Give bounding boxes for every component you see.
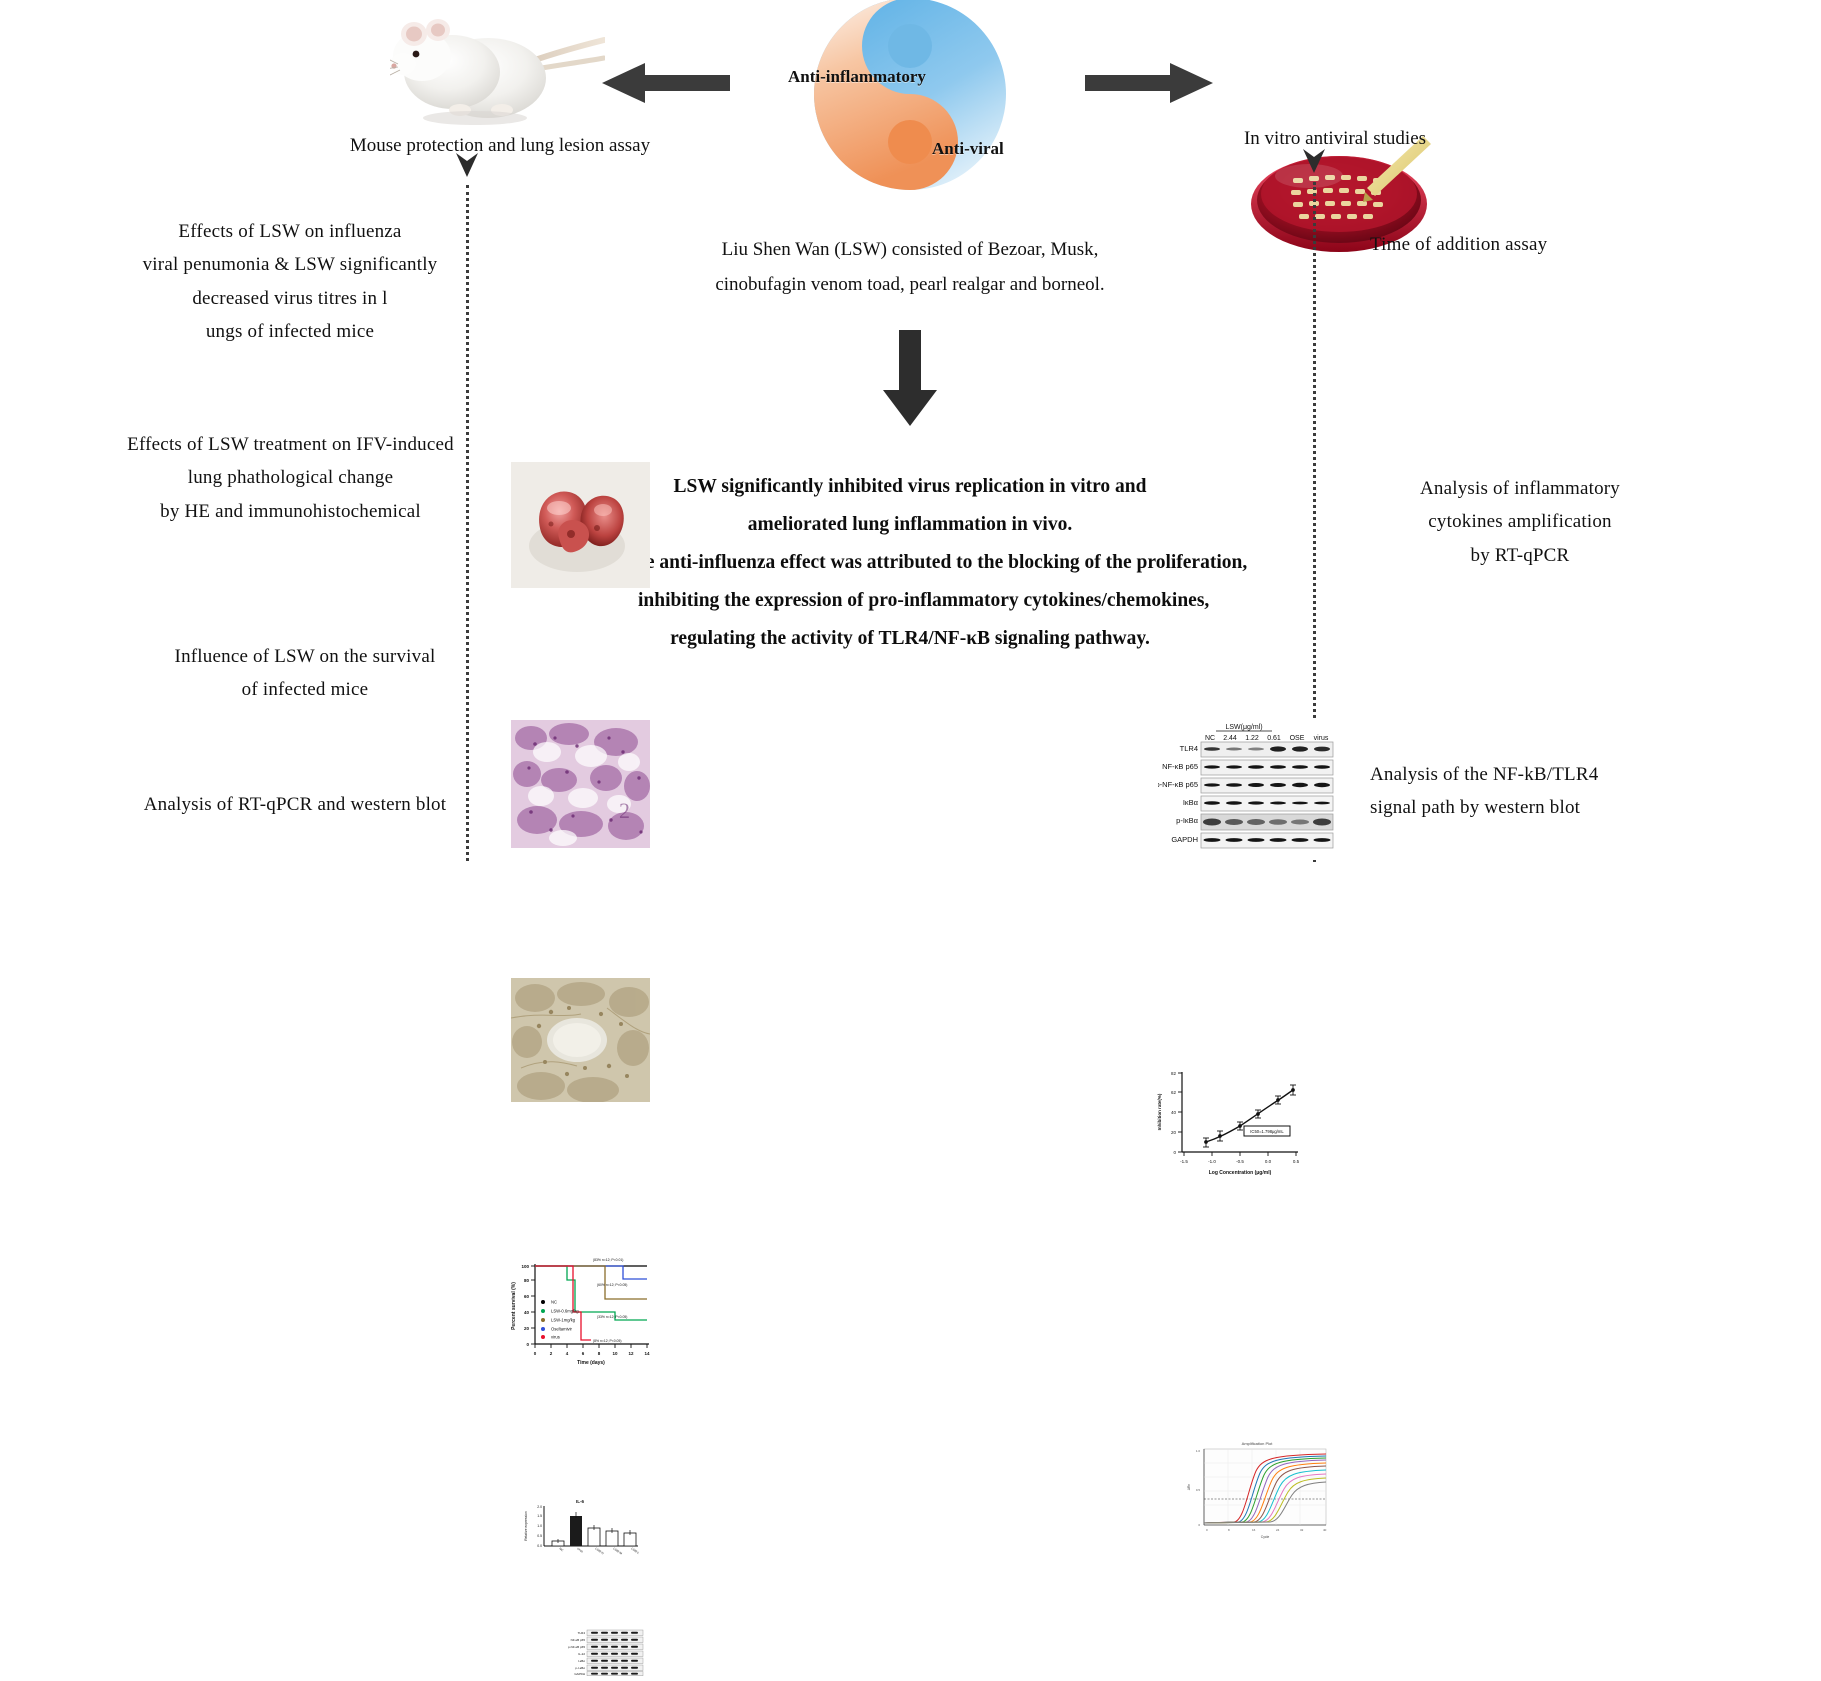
svg-text:(60% n=12; P<0.05): (60% n=12; P<0.05) <box>597 1283 627 1287</box>
svg-text:62: 62 <box>1171 1090 1177 1095</box>
composition-line: Liu Shen Wan (LSW) consisted of Bezoar, … <box>680 232 1140 267</box>
right-label-cytokine-rtqpcr: Analysis of inflammatory cytokines ampli… <box>1370 472 1670 572</box>
label-line: signal path by western blot <box>1370 791 1690 824</box>
svg-text:0.5: 0.5 <box>537 1534 542 1538</box>
svg-text:NF-κB p65: NF-κB p65 <box>1162 762 1198 771</box>
label-line: Analysis of inflammatory <box>1370 472 1670 505</box>
ihc-stain-photo <box>511 978 650 1102</box>
lung-lesion-photo <box>511 462 650 588</box>
right-label-time-of-addition: Time of addition assay <box>1370 228 1690 261</box>
arrow-down-left-branch <box>455 152 479 178</box>
he-stain-photo: 2 <box>511 720 650 848</box>
dose-response-chart: 0 20 40 62 82 -1.5 -1.0 -0.5 0.0 0.5 Log… <box>1148 1064 1308 1182</box>
svg-text:GAPDH: GAPDH <box>574 1672 585 1676</box>
svg-text:p-I-κBα: p-I-κBα <box>575 1666 585 1670</box>
svg-text:LSW-1mg/kg: LSW-1mg/kg <box>551 1318 576 1323</box>
svg-text:1.0: 1.0 <box>1196 1449 1201 1453</box>
svg-text:p-IκBα: p-IκBα <box>1176 816 1199 825</box>
svg-text:Oseltamivir: Oseltamivir <box>551 1327 573 1332</box>
svg-text:0.61: 0.61 <box>1267 735 1281 742</box>
label-line: Influence of LSW on the survival <box>150 640 460 673</box>
svg-text:virus: virus <box>1314 735 1329 742</box>
svg-text:1.0: 1.0 <box>537 1524 542 1528</box>
svg-text:GAPDH: GAPDH <box>1171 835 1198 844</box>
svg-text:1.5: 1.5 <box>537 1514 542 1518</box>
svg-text:32: 32 <box>1300 1528 1304 1532</box>
label-line: cytokines amplification <box>1370 505 1670 538</box>
svg-text:100: 100 <box>521 1264 529 1269</box>
arrow-left-to-mouse <box>600 62 730 104</box>
arrow-down-center <box>880 330 940 428</box>
svg-text:IκBα: IκBα <box>1183 798 1199 807</box>
conclusion-line: inhibiting the expression of pro-inflamm… <box>638 582 1170 620</box>
label-line: by RT-qPCR <box>1370 539 1670 572</box>
svg-text:10: 10 <box>612 1351 618 1356</box>
svg-text:OSE: OSE <box>1290 735 1305 742</box>
svg-text:14: 14 <box>644 1351 650 1356</box>
svg-text:TLR4: TLR4 <box>1180 744 1198 753</box>
left-western-blot: TLR4 NF-κB p65 p-NF-κB p65 IL-22 I-κBα p… <box>560 1628 646 1676</box>
svg-text:NC: NC <box>1205 735 1215 742</box>
label-line: Effects of LSW on influenza <box>130 215 450 248</box>
svg-text:60: 60 <box>524 1294 530 1299</box>
yin-yang-diagram: Anti-inflammatory Anti-viral <box>760 0 1060 192</box>
svg-text:(33% n=12; P<0.05): (33% n=12; P<0.05) <box>597 1315 627 1319</box>
svg-text:Inhibition rate(%): Inhibition rate(%) <box>1157 1093 1162 1130</box>
svg-text:80: 80 <box>524 1278 530 1283</box>
svg-text:40: 40 <box>1323 1528 1327 1532</box>
label-line: by HE and immunohistochemical <box>118 495 463 528</box>
svg-text:82: 82 <box>1171 1071 1177 1076</box>
svg-text:p-NF-κB p65: p-NF-κB p65 <box>1158 780 1198 789</box>
arrow-down-right-branch <box>1302 148 1326 174</box>
right-western-blot: LSW(μg/ml) NC 2.44 1.22 0.61 OSE virus T… <box>1158 720 1336 860</box>
svg-text:12: 12 <box>628 1351 634 1356</box>
label-line: Effects of LSW treatment on IFV-induced <box>118 428 463 461</box>
conclusion-text: LSW significantly inhibited virus replic… <box>650 468 1170 658</box>
svg-text:virus: virus <box>551 1335 560 1340</box>
survival-curve-chart: 0 20 40 60 80 100 02 46 810 1214 Time (d… <box>505 1256 657 1368</box>
svg-text:Cycle: Cycle <box>1261 1535 1270 1539</box>
svg-text:LSW(μg/ml): LSW(μg/ml) <box>1225 724 1262 731</box>
svg-text:Relative expression: Relative expression <box>524 1511 528 1541</box>
label-line: Analysis of the NF-kB/TLR4 <box>1370 758 1690 791</box>
svg-text:0.5: 0.5 <box>1196 1488 1201 1492</box>
svg-text:IL-22: IL-22 <box>578 1652 585 1656</box>
amplification-plot: Amplification Plot <box>1182 1437 1332 1547</box>
left-label-survival: Influence of LSW on the survival of infe… <box>150 640 460 707</box>
svg-text:NF-κB p65: NF-κB p65 <box>571 1638 586 1642</box>
yinyang-right-label: Anti-viral <box>932 139 1004 159</box>
composition-line: cinobufagin venom toad, pearl realgar an… <box>680 267 1140 302</box>
left-label-rtqpcr-wb: Analysis of RT-qPCR and western blot <box>130 788 460 821</box>
label-line: lung phathological change <box>118 461 463 494</box>
svg-text:(8% n=12; P<0.05): (8% n=12; P<0.05) <box>593 1339 621 1343</box>
dotted-guide-left <box>466 185 469 861</box>
svg-text:Log Concentration (μg/ml): Log Concentration (μg/ml) <box>1209 1170 1272 1176</box>
svg-text:2: 2 <box>619 798 630 823</box>
svg-text:20: 20 <box>1171 1130 1177 1135</box>
label-line: Analysis of RT-qPCR and western blot <box>130 788 460 821</box>
yinyang-left-label: Anti-inflammatory <box>788 67 926 87</box>
svg-text:(83% n=12; P<0.01): (83% n=12; P<0.01) <box>593 1258 623 1262</box>
svg-text:20: 20 <box>524 1326 530 1331</box>
svg-text:IL-6: IL-6 <box>576 1499 584 1504</box>
rtqpcr-bar-chart: IL-6 0.0 0.5 1.0 1.5 2.0 Relative expres… <box>512 1496 648 1564</box>
label-line: ungs of infected mice <box>130 315 450 348</box>
svg-text:Percent survival (%): Percent survival (%) <box>511 1282 517 1330</box>
conclusion-line: ameliorated lung inflammation in vivo. <box>650 506 1170 544</box>
mouse-photo <box>390 6 605 134</box>
svg-text:24: 24 <box>1276 1528 1280 1532</box>
label-line: decreased virus titres in l <box>130 282 450 315</box>
svg-text:-1.0: -1.0 <box>1208 1159 1216 1164</box>
label-line: Time of addition assay <box>1370 228 1690 261</box>
arrow-right-to-dish <box>1085 62 1215 104</box>
svg-text:ΔRn: ΔRn <box>1187 1484 1191 1491</box>
svg-text:40: 40 <box>524 1310 530 1315</box>
svg-text:-1.5: -1.5 <box>1180 1159 1188 1164</box>
mouse-assay-caption: Mouse protection and lung lesion assay <box>300 135 700 157</box>
label-line: of infected mice <box>150 673 460 706</box>
invitro-caption: In vitro antiviral studies <box>1160 128 1510 150</box>
svg-text:-0.5: -0.5 <box>1236 1159 1244 1164</box>
label-line: viral penumonia & LSW significantly <box>130 248 450 281</box>
svg-text:Time (days): Time (days) <box>577 1360 605 1366</box>
svg-text:LSW-0.6mg/kg: LSW-0.6mg/kg <box>551 1309 579 1314</box>
conclusion-line: LSW significantly inhibited virus replic… <box>650 468 1170 506</box>
right-label-nfkb-tlr4-wb: Analysis of the NF-kB/TLR4 signal path b… <box>1370 758 1690 825</box>
svg-text:40: 40 <box>1171 1110 1177 1115</box>
svg-text:0.5: 0.5 <box>1293 1159 1300 1164</box>
svg-text:Amplification Plot: Amplification Plot <box>1242 1441 1274 1446</box>
svg-text:TLR4: TLR4 <box>578 1631 586 1635</box>
svg-text:0.0: 0.0 <box>1265 1159 1272 1164</box>
conclusion-line: The anti-influenza effect was attributed… <box>622 544 1170 582</box>
svg-text:16: 16 <box>1252 1528 1256 1532</box>
svg-text:p-NF-κB p65: p-NF-κB p65 <box>568 1645 585 1649</box>
left-label-lung-lesion-assay: Effects of LSW on influenza viral penumo… <box>130 215 450 348</box>
svg-text:0.0: 0.0 <box>537 1544 542 1548</box>
conclusion-line: regulating the activity of TLR4/NF-κB si… <box>650 620 1170 658</box>
svg-text:2.0: 2.0 <box>537 1505 542 1509</box>
svg-text:NC: NC <box>551 1300 557 1305</box>
svg-text:2.44: 2.44 <box>1223 735 1237 742</box>
svg-text:1.22: 1.22 <box>1245 735 1259 742</box>
svg-text:IC50=1.798μg/mL: IC50=1.798μg/mL <box>1250 1129 1284 1134</box>
left-label-histopathology: Effects of LSW treatment on IFV-induced … <box>118 428 463 528</box>
lsw-composition-text: Liu Shen Wan (LSW) consisted of Bezoar, … <box>680 232 1140 302</box>
svg-text:I-κBα: I-κBα <box>578 1659 585 1663</box>
